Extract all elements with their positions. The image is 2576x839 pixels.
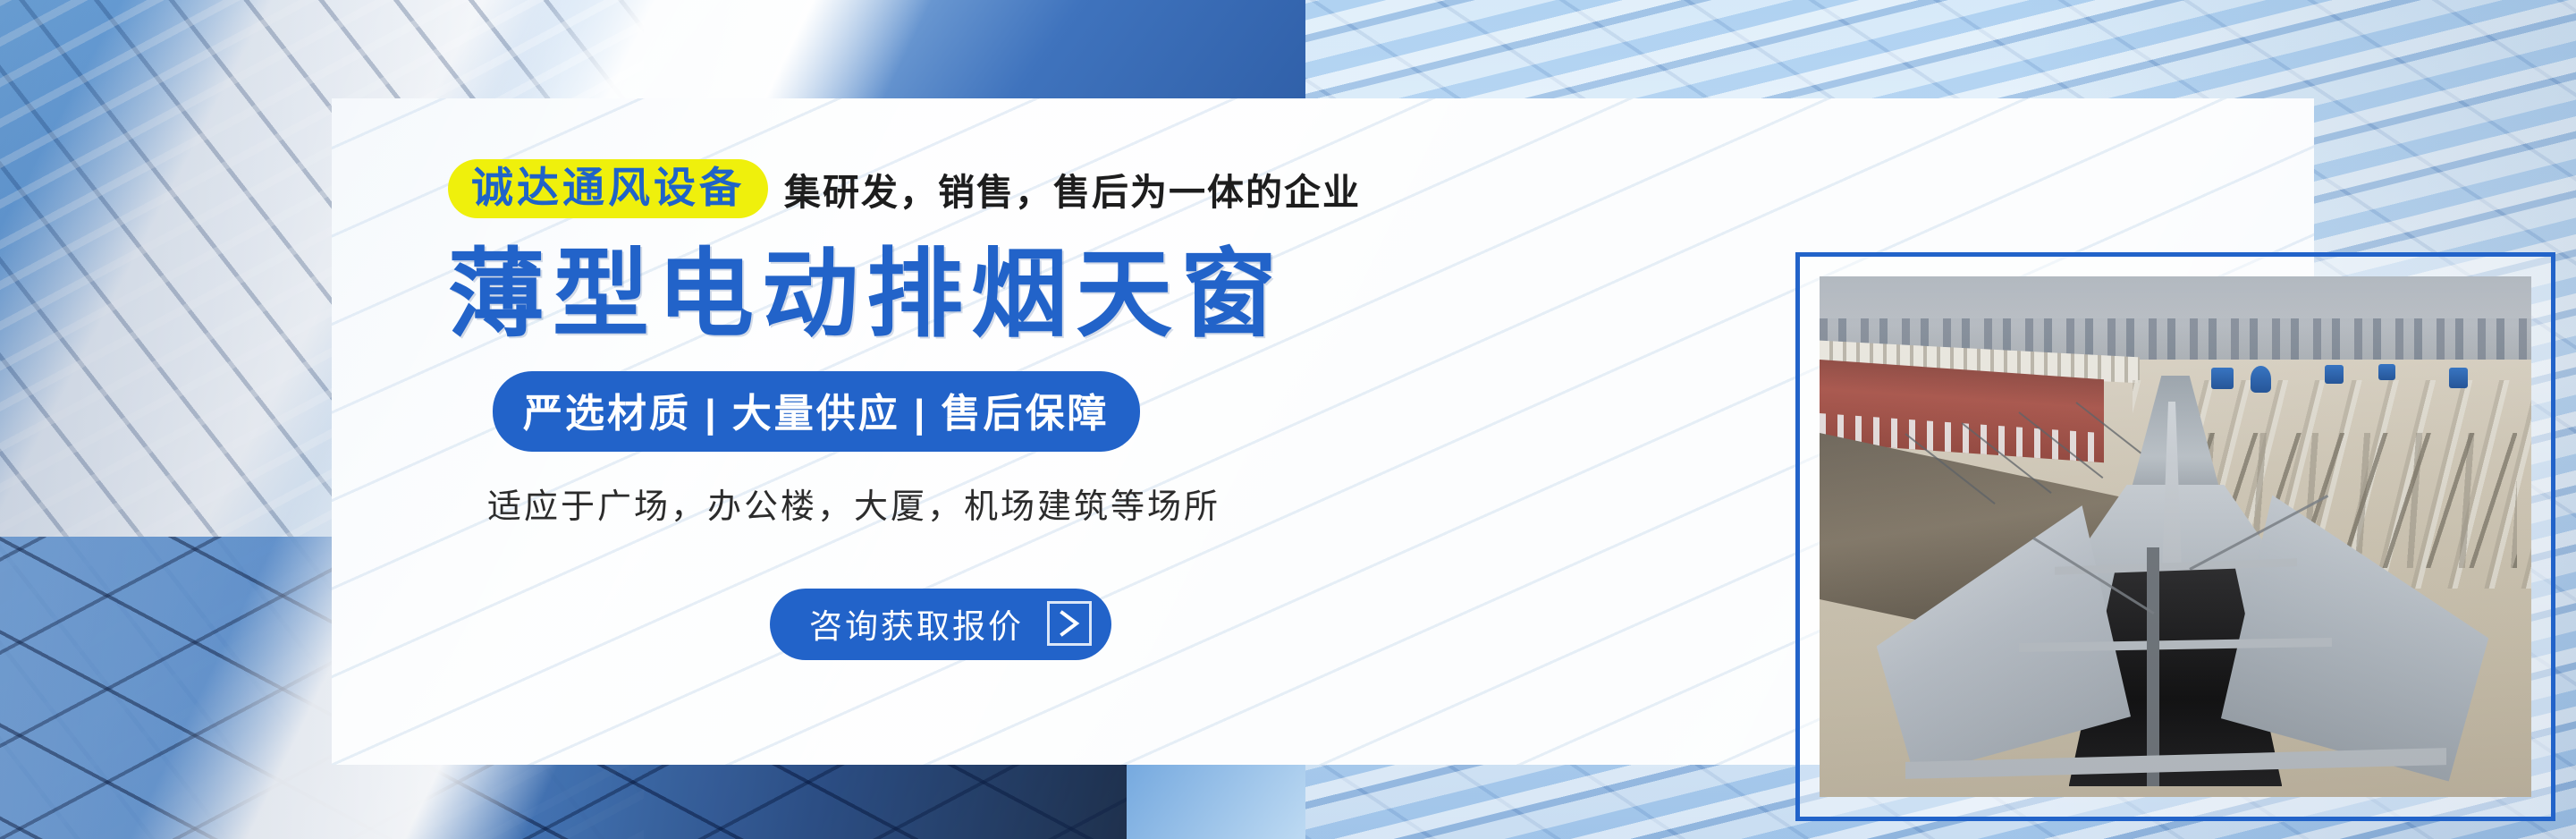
product-photo [1820,276,2531,797]
chevron-right-icon [1047,601,1092,646]
get-quote-button-label: 咨询获取报价 [809,599,1024,648]
get-quote-button[interactable]: 咨询获取报价 [770,589,1111,660]
brand-badge: 诚达通风设备 [448,159,768,218]
photo-frame-mullion [2147,547,2159,787]
product-photo-frame [1795,252,2555,821]
subtitle-text: 适应于广场，办公楼，大厦，机场建筑等场所 [487,479,1458,528]
tagline-text: 集研发，销售，售后为一体的企业 [784,162,1361,216]
tagline-row: 诚达通风设备 集研发，销售，售后为一体的企业 [448,154,1458,224]
photo-blue-vent-3 [2325,365,2344,384]
page-title: 薄型电动排烟天窗 [448,243,1458,348]
photo-blue-vent-4 [2378,364,2395,381]
content-panel: 诚达通风设备 集研发，销售，售后为一体的企业 薄型电动排烟天窗 严选材质 | 大… [332,98,2314,765]
feature-badge: 严选材质 | 大量供应 | 售后保障 [493,371,1140,452]
cta-wrapper: 咨询获取报价 [770,589,1458,660]
photo-blue-vent-2 [2251,366,2272,393]
photo-blue-vent-1 [2211,368,2234,389]
copy-column: 诚达通风设备 集研发，销售，售后为一体的企业 薄型电动排烟天窗 严选材质 | 大… [448,154,1458,660]
photo-blue-vent-5 [2449,368,2468,387]
